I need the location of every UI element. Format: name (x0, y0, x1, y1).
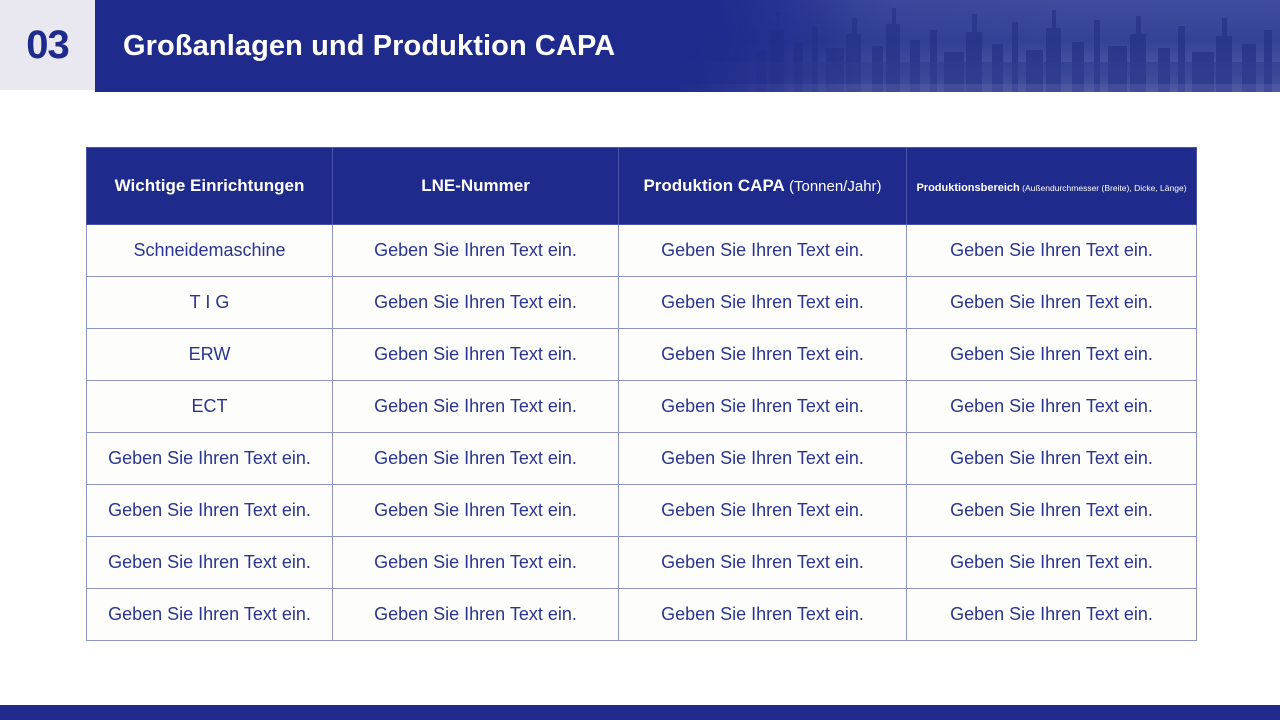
table-row: ECT Geben Sie Ihren Text ein. Geben Sie … (87, 381, 1197, 433)
column-header-wichtige-einrichtungen[interactable]: Wichtige Einrichtungen (87, 148, 333, 225)
cell-production-capa[interactable]: Geben Sie Ihren Text ein. (619, 225, 907, 277)
cell-production-range[interactable]: Geben Sie Ihren Text ein. (907, 485, 1197, 537)
cell-lne-number[interactable]: Geben Sie Ihren Text ein. (333, 433, 619, 485)
column-header-label: Produktion CAPA (643, 176, 784, 195)
cell-equipment[interactable]: T I G (87, 277, 333, 329)
column-header-group: Produktionsbereich (Außendurchmesser (Br… (915, 176, 1188, 196)
cell-production-range[interactable]: Geben Sie Ihren Text ein. (907, 433, 1197, 485)
column-header-group: Produktion CAPA (Tonnen/Jahr) (627, 176, 898, 196)
table-row: Geben Sie Ihren Text ein. Geben Sie Ihre… (87, 485, 1197, 537)
slide-header: 03 (0, 0, 1280, 92)
cell-lne-number[interactable]: Geben Sie Ihren Text ein. (333, 329, 619, 381)
column-header-unit: (Tonnen/Jahr) (785, 178, 882, 195)
table-row: Geben Sie Ihren Text ein. Geben Sie Ihre… (87, 433, 1197, 485)
column-header-lne-nummer[interactable]: LNE-Nummer (333, 148, 619, 225)
cell-lne-number[interactable]: Geben Sie Ihren Text ein. (333, 537, 619, 589)
cell-production-capa[interactable]: Geben Sie Ihren Text ein. (619, 433, 907, 485)
cell-equipment[interactable]: Schneidemaschine (87, 225, 333, 277)
cell-production-range[interactable]: Geben Sie Ihren Text ein. (907, 381, 1197, 433)
cell-equipment[interactable]: Geben Sie Ihren Text ein. (87, 485, 333, 537)
cell-lne-number[interactable]: Geben Sie Ihren Text ein. (333, 589, 619, 641)
table-header-row: Wichtige Einrichtungen LNE-Nummer Produk… (87, 148, 1197, 225)
column-header-label: LNE-Nummer (341, 176, 610, 196)
cell-production-capa[interactable]: Geben Sie Ihren Text ein. (619, 589, 907, 641)
cell-equipment[interactable]: ERW (87, 329, 333, 381)
cell-equipment[interactable]: Geben Sie Ihren Text ein. (87, 589, 333, 641)
cell-lne-number[interactable]: Geben Sie Ihren Text ein. (333, 381, 619, 433)
cell-lne-number[interactable]: Geben Sie Ihren Text ein. (333, 277, 619, 329)
capa-table: Wichtige Einrichtungen LNE-Nummer Produk… (86, 147, 1197, 641)
column-header-produktion-capa[interactable]: Produktion CAPA (Tonnen/Jahr) (619, 148, 907, 225)
cell-equipment[interactable]: Geben Sie Ihren Text ein. (87, 433, 333, 485)
table-header: Wichtige Einrichtungen LNE-Nummer Produk… (87, 148, 1197, 225)
cell-lne-number[interactable]: Geben Sie Ihren Text ein. (333, 485, 619, 537)
table-row: Schneidemaschine Geben Sie Ihren Text ei… (87, 225, 1197, 277)
cell-production-capa[interactable]: Geben Sie Ihren Text ein. (619, 381, 907, 433)
section-number-block: 03 (0, 0, 95, 90)
header-title-band: Großanlagen und Produktion CAPA (95, 0, 1280, 92)
table-row: ERW Geben Sie Ihren Text ein. Geben Sie … (87, 329, 1197, 381)
cell-production-range[interactable]: Geben Sie Ihren Text ein. (907, 329, 1197, 381)
column-header-unit: (Außendurchmesser (Breite), Dicke, Länge… (1020, 183, 1187, 193)
column-header-label: Produktionsbereich (916, 182, 1019, 194)
cell-production-range[interactable]: Geben Sie Ihren Text ein. (907, 225, 1197, 277)
cell-lne-number[interactable]: Geben Sie Ihren Text ein. (333, 225, 619, 277)
table-row: Geben Sie Ihren Text ein. Geben Sie Ihre… (87, 589, 1197, 641)
column-header-label: Wichtige Einrichtungen (95, 176, 324, 196)
cell-production-capa[interactable]: Geben Sie Ihren Text ein. (619, 329, 907, 381)
cell-production-capa[interactable]: Geben Sie Ihren Text ein. (619, 537, 907, 589)
cell-production-capa[interactable]: Geben Sie Ihren Text ein. (619, 485, 907, 537)
section-number: 03 (0, 0, 95, 90)
table-row: Geben Sie Ihren Text ein. Geben Sie Ihre… (87, 537, 1197, 589)
page-title: Großanlagen und Produktion CAPA (123, 0, 615, 92)
cell-production-capa[interactable]: Geben Sie Ihren Text ein. (619, 277, 907, 329)
cell-production-range[interactable]: Geben Sie Ihren Text ein. (907, 537, 1197, 589)
table-body: Schneidemaschine Geben Sie Ihren Text ei… (87, 225, 1197, 641)
cell-production-range[interactable]: Geben Sie Ihren Text ein. (907, 277, 1197, 329)
column-header-produktionsbereich[interactable]: Produktionsbereich (Außendurchmesser (Br… (907, 148, 1197, 225)
cell-equipment[interactable]: ECT (87, 381, 333, 433)
cell-production-range[interactable]: Geben Sie Ihren Text ein. (907, 589, 1197, 641)
table-row: T I G Geben Sie Ihren Text ein. Geben Si… (87, 277, 1197, 329)
slide-footer-bar (0, 705, 1280, 720)
cell-equipment[interactable]: Geben Sie Ihren Text ein. (87, 537, 333, 589)
